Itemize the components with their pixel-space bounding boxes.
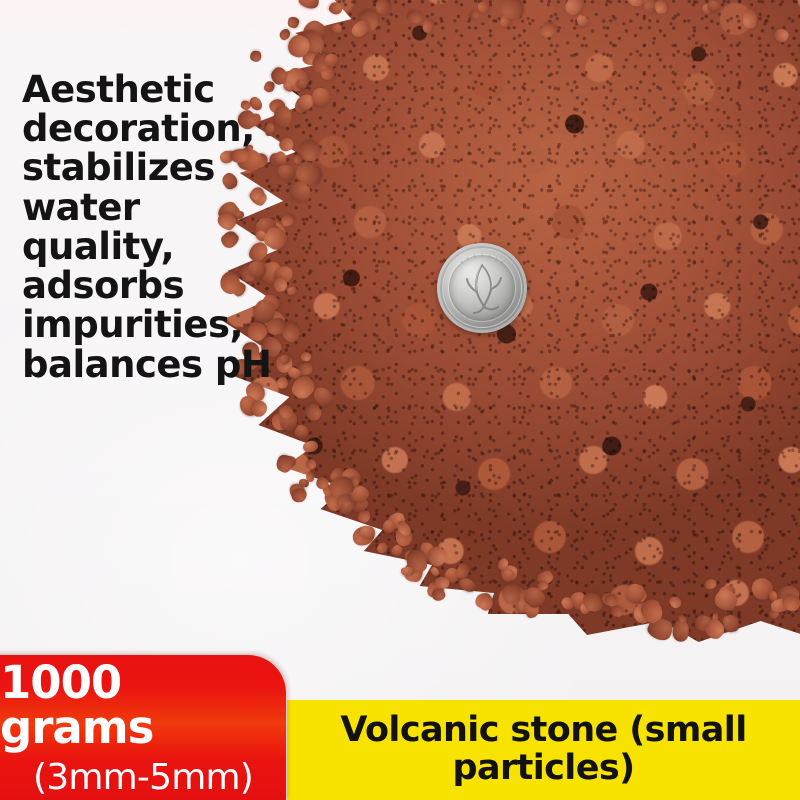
stone-granule — [357, 509, 371, 523]
product-image: Aesthetic decoration, stabilizes water q… — [0, 0, 800, 800]
stone-granule — [305, 459, 316, 470]
stone-granule — [325, 54, 339, 67]
weight-badge: 1000 grams (3mm-5mm) — [0, 655, 286, 800]
product-name-label: Volcanic stone (small particles) — [287, 712, 800, 788]
stone-granule — [500, 0, 524, 20]
stone-granule — [297, 0, 320, 10]
stone-granule — [249, 50, 262, 62]
stone-granule — [315, 476, 329, 490]
stone-granule — [292, 488, 307, 502]
stone-granule — [742, 8, 758, 29]
coin-scale-reference — [437, 243, 527, 333]
product-name-bar: Volcanic stone (small particles) — [287, 700, 800, 800]
particle-size-label: (3mm-5mm) — [33, 760, 253, 796]
marketing-headline: Aesthetic decoration, stabilizes water q… — [22, 70, 272, 384]
weight-label: 1000 grams — [0, 660, 286, 750]
stone-granule — [286, 16, 300, 29]
stone-granule — [610, 606, 623, 617]
stone-granule — [306, 471, 315, 482]
coin-relief-icon — [437, 243, 527, 333]
stone-granule — [401, 566, 414, 575]
stone-granule — [431, 588, 447, 603]
